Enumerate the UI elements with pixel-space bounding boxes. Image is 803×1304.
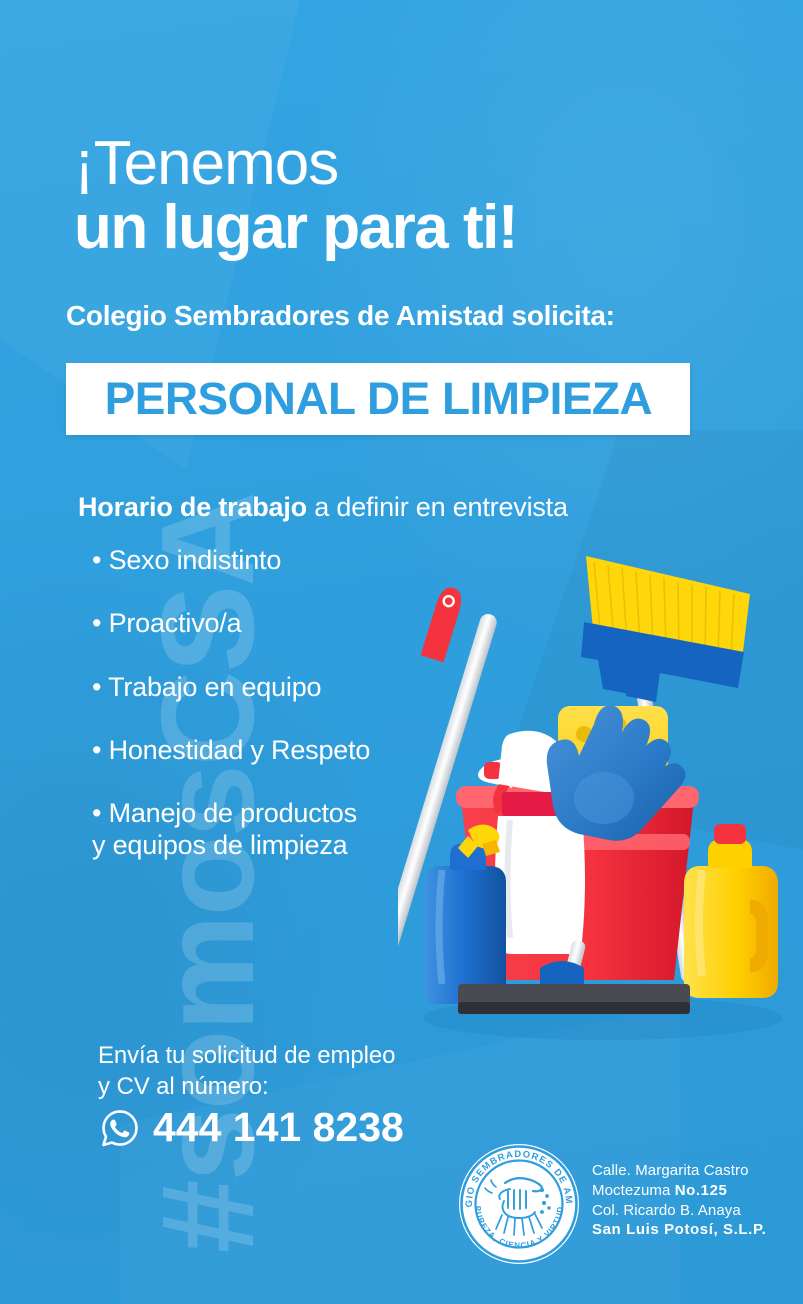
organization-request-line: Colegio Sembradores de Amistad solicita: [66, 300, 615, 332]
address-line-3: Col. Ricardo B. Anaya [592, 1201, 766, 1221]
list-item: Sexo indistinto [92, 545, 370, 576]
job-poster: #somosCSA ¡Tenemos un lugar para ti! Col… [0, 0, 803, 1304]
job-title: PERSONAL DE LIMPIEZA [104, 373, 651, 425]
contact-phone-row[interactable]: 444 141 8238 [100, 1104, 404, 1151]
list-item: Trabajo en equipo [92, 672, 370, 703]
schedule-value: a definir en entrevista [307, 492, 568, 522]
requirements-list: Sexo indistinto Proactivo/a Trabajo en e… [92, 545, 370, 893]
schedule-line: Horario de trabajo a definir en entrevis… [78, 492, 568, 523]
phone-number[interactable]: 444 141 8238 [153, 1104, 404, 1151]
school-logo: COLEGIO SEMBRADORES DE AMISTAD PUREZA, C… [458, 1143, 580, 1265]
headline-line-1: ¡Tenemos [74, 134, 517, 194]
headline-line-2: un lugar para ti! [74, 198, 517, 258]
detergent-bottle [684, 824, 778, 998]
schedule-label: Horario de trabajo [78, 492, 307, 522]
address-line-2: Moctezuma No.125 [592, 1181, 766, 1201]
list-item: Proactivo/a [92, 608, 370, 639]
contact-instruction: Envía tu solicitud de empleo y CV al núm… [98, 1040, 395, 1102]
whatsapp-icon[interactable] [100, 1108, 140, 1148]
address-line-4: San Luis Potosí, S.L.P. [592, 1220, 766, 1240]
blue-bottle [424, 824, 506, 1004]
address-line-1: Calle. Margarita Castro [592, 1161, 766, 1181]
address-block: Calle. Margarita Castro Moctezuma No.125… [592, 1161, 766, 1240]
list-item: Manejo de productos y equipos de limpiez… [92, 798, 370, 861]
list-item: Honestidad y Respeto [92, 735, 370, 766]
cleaning-supplies-illustration [398, 548, 798, 1048]
page-title: ¡Tenemos un lugar para ti! [74, 134, 517, 257]
job-title-band: PERSONAL DE LIMPIEZA [66, 363, 690, 435]
